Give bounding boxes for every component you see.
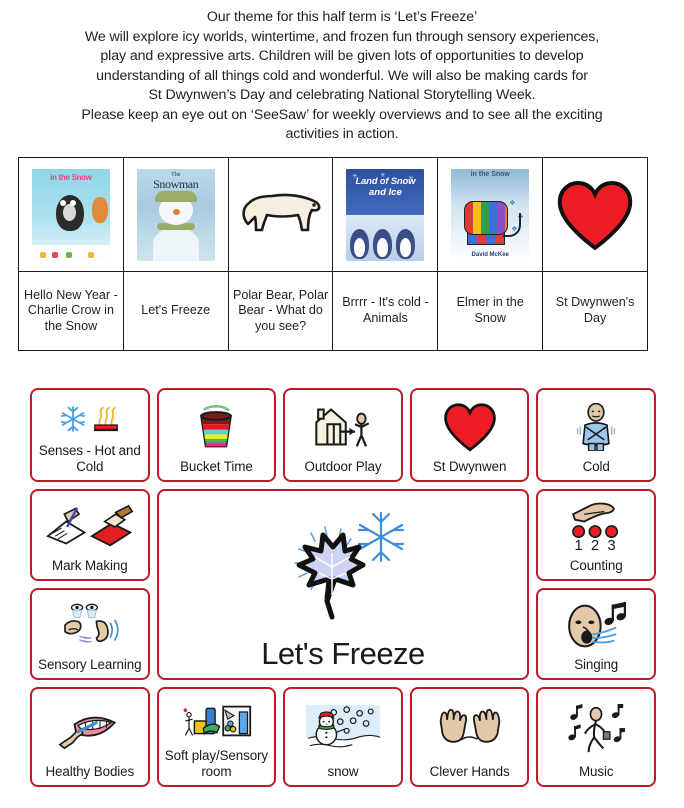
card-artwork: [35, 694, 145, 764]
book-cell-st-dwynwen: [543, 158, 648, 272]
card-artwork: [35, 496, 145, 558]
book-title-cell: Let's Freeze: [123, 272, 228, 351]
book-cell-elmer-in-the-snow: in the Snow ❖ ❖ ❖ David McKee: [438, 158, 543, 272]
counter-label-1: 1: [575, 538, 583, 553]
pointing-hand-counters-icon: 1 2 3: [564, 501, 628, 553]
activity-card-healthy-bodies[interactable]: Healthy Bodies: [30, 687, 150, 787]
shivering-person-icon: [573, 403, 619, 451]
book-cover-charlie-crow: in the Snow: [32, 169, 110, 261]
cover-snowman-text: Snowman: [137, 177, 215, 192]
snowflake-and-fire-icon: [58, 404, 121, 434]
book-title-row: Hello New Year - Charlie Crow in the Sno…: [19, 272, 648, 351]
card-label: Mark Making: [52, 558, 128, 574]
card-label: Sensory Learning: [38, 657, 141, 673]
house-and-person-icon: [312, 404, 374, 450]
counter-label-2: 2: [591, 538, 599, 553]
book-title-cell: Polar Bear, Polar Bear - What do you see…: [228, 272, 333, 351]
book-title-text: Hello New Year - Charlie Crow in the Sno…: [19, 286, 123, 337]
card-artwork: [541, 595, 651, 657]
card-label: Cold: [583, 459, 610, 475]
activity-card-sensory-learning[interactable]: Sensory Learning: [30, 588, 150, 680]
activity-card-singing[interactable]: Singing: [536, 588, 656, 680]
book-cell-charlie-crow: in the Snow: [19, 158, 124, 272]
book-cell-the-snowman: The Snowman: [123, 158, 228, 272]
activity-grid: Senses - Hot and Cold Bucket Time: [30, 388, 656, 796]
book-cover-row: in the Snow The Snowman: [19, 158, 648, 272]
card-artwork: [541, 694, 651, 764]
card-label: Counting: [570, 558, 623, 574]
book-table: in the Snow The Snowman: [18, 157, 648, 351]
card-artwork: [415, 694, 525, 764]
card-artwork: [35, 595, 145, 657]
mouth-ear-eyes-icon: [59, 601, 121, 651]
card-artwork: [162, 395, 272, 459]
activity-card-bucket-time[interactable]: Bucket Time: [157, 388, 277, 482]
book-title-cell: Brrrr - It's cold - Animals: [333, 272, 438, 351]
card-artwork: [162, 694, 272, 748]
book-title-text: Let's Freeze: [124, 301, 228, 321]
activity-card-st-dwynwen[interactable]: St Dwynwen: [410, 388, 530, 482]
book-cover-elmer-in-the-snow: in the Snow ❖ ❖ ❖ David McKee: [451, 169, 529, 261]
card-label: Bucket Time: [180, 459, 253, 475]
activity-card-counting[interactable]: 1 2 3 Counting: [536, 489, 656, 581]
card-label: St Dwynwen: [433, 459, 506, 475]
heart-icon: [555, 179, 635, 251]
intro-line-2: We will explore icy worlds, wintertime, …: [18, 28, 666, 48]
book-title-text: Polar Bear, Polar Bear - What do you see…: [229, 286, 333, 337]
cover-line-2: and Ice: [346, 187, 424, 198]
intro-paragraph: Our theme for this half term is ‘Let’s F…: [0, 8, 684, 145]
center-card-label: Let's Freeze: [261, 636, 425, 672]
frozen-leaf-snowflake-icon: [253, 505, 433, 625]
activity-card-soft-play-sensory-room[interactable]: Soft play/Sensory room: [157, 687, 277, 787]
intro-line-4: understanding of all things cold and won…: [18, 67, 666, 87]
book-cell-polar-bear: [228, 158, 333, 272]
card-artwork: 1 2 3: [541, 496, 651, 558]
card-artwork: [541, 395, 651, 459]
card-label: Senses - Hot and Cold: [35, 443, 145, 474]
card-label: Singing: [574, 657, 618, 673]
activity-card-lets-freeze[interactable]: Let's Freeze: [157, 489, 530, 680]
book-title-text: Brrrr - It's cold - Animals: [333, 293, 437, 328]
two-hands-icon: [434, 707, 506, 751]
activity-card-outdoor-play[interactable]: Outdoor Play: [283, 388, 403, 482]
book-cover-the-snowman: The Snowman: [137, 169, 215, 261]
dancing-music-icon: [562, 704, 630, 754]
intro-line-6: Please keep an eye out on ‘SeeSaw’ for w…: [18, 106, 666, 126]
card-artwork: [288, 694, 398, 764]
book-title-cell: Hello New Year - Charlie Crow in the Sno…: [19, 272, 124, 351]
card-artwork: [35, 395, 145, 443]
book-title-cell: Elmer in the Snow: [438, 272, 543, 351]
card-label: Outdoor Play: [305, 459, 382, 475]
activity-card-cold[interactable]: Cold: [536, 388, 656, 482]
activity-card-music[interactable]: Music: [536, 687, 656, 787]
intro-line-3: play and expressive arts. Children will …: [18, 47, 666, 67]
pen-and-paintbrush-icon: [44, 505, 136, 549]
cover-title-text: in the Snow: [32, 173, 110, 182]
cover-line-1: Land of Snow: [346, 176, 424, 187]
book-cover-land-of-snow-and-ice: ✳ ✳ ✳ Land of Snow and Ice: [346, 169, 424, 261]
soft-play-equipment-icon: [179, 703, 253, 739]
counter-label-3: 3: [608, 538, 616, 553]
heart-icon: [442, 402, 498, 452]
activity-card-mark-making[interactable]: Mark Making: [30, 489, 150, 581]
intro-line-7: activities in action.: [18, 125, 666, 145]
book-title-text: St Dwynwen's Day: [543, 293, 647, 328]
intro-line-5: St Dwynwen’s Day and celebrating Nationa…: [18, 86, 666, 106]
bucket-icon: [193, 404, 239, 450]
card-artwork: [415, 395, 525, 459]
card-label: Soft play/Sensory room: [162, 748, 272, 779]
singing-face-icon: [562, 601, 630, 651]
theme-overview-poster: Our theme for this half term is ‘Let’s F…: [0, 0, 684, 808]
activity-card-senses-hot-and-cold[interactable]: Senses - Hot and Cold: [30, 388, 150, 482]
activity-card-clever-hands[interactable]: Clever Hands: [410, 687, 530, 787]
intro-line-1: Our theme for this half term is ‘Let’s F…: [18, 8, 666, 28]
card-label: Healthy Bodies: [45, 764, 134, 780]
card-label: Music: [579, 764, 613, 780]
activity-card-snow[interactable]: snow: [283, 687, 403, 787]
card-artwork: [162, 496, 525, 634]
card-label: Clever Hands: [430, 764, 510, 780]
polar-bear-icon: [238, 184, 324, 240]
book-title-cell: St Dwynwen's Day: [543, 272, 648, 351]
cover-author-text: David McKee: [451, 252, 529, 258]
cover-line-1: in the Snow: [451, 171, 529, 178]
snowman-scene-icon: [306, 705, 380, 753]
card-label: snow: [328, 764, 359, 780]
card-artwork: [288, 395, 398, 459]
book-cell-land-of-snow-and-ice: ✳ ✳ ✳ Land of Snow and Ice: [333, 158, 438, 272]
book-title-text: Elmer in the Snow: [438, 293, 542, 328]
toothbrush-icon: [57, 708, 123, 750]
